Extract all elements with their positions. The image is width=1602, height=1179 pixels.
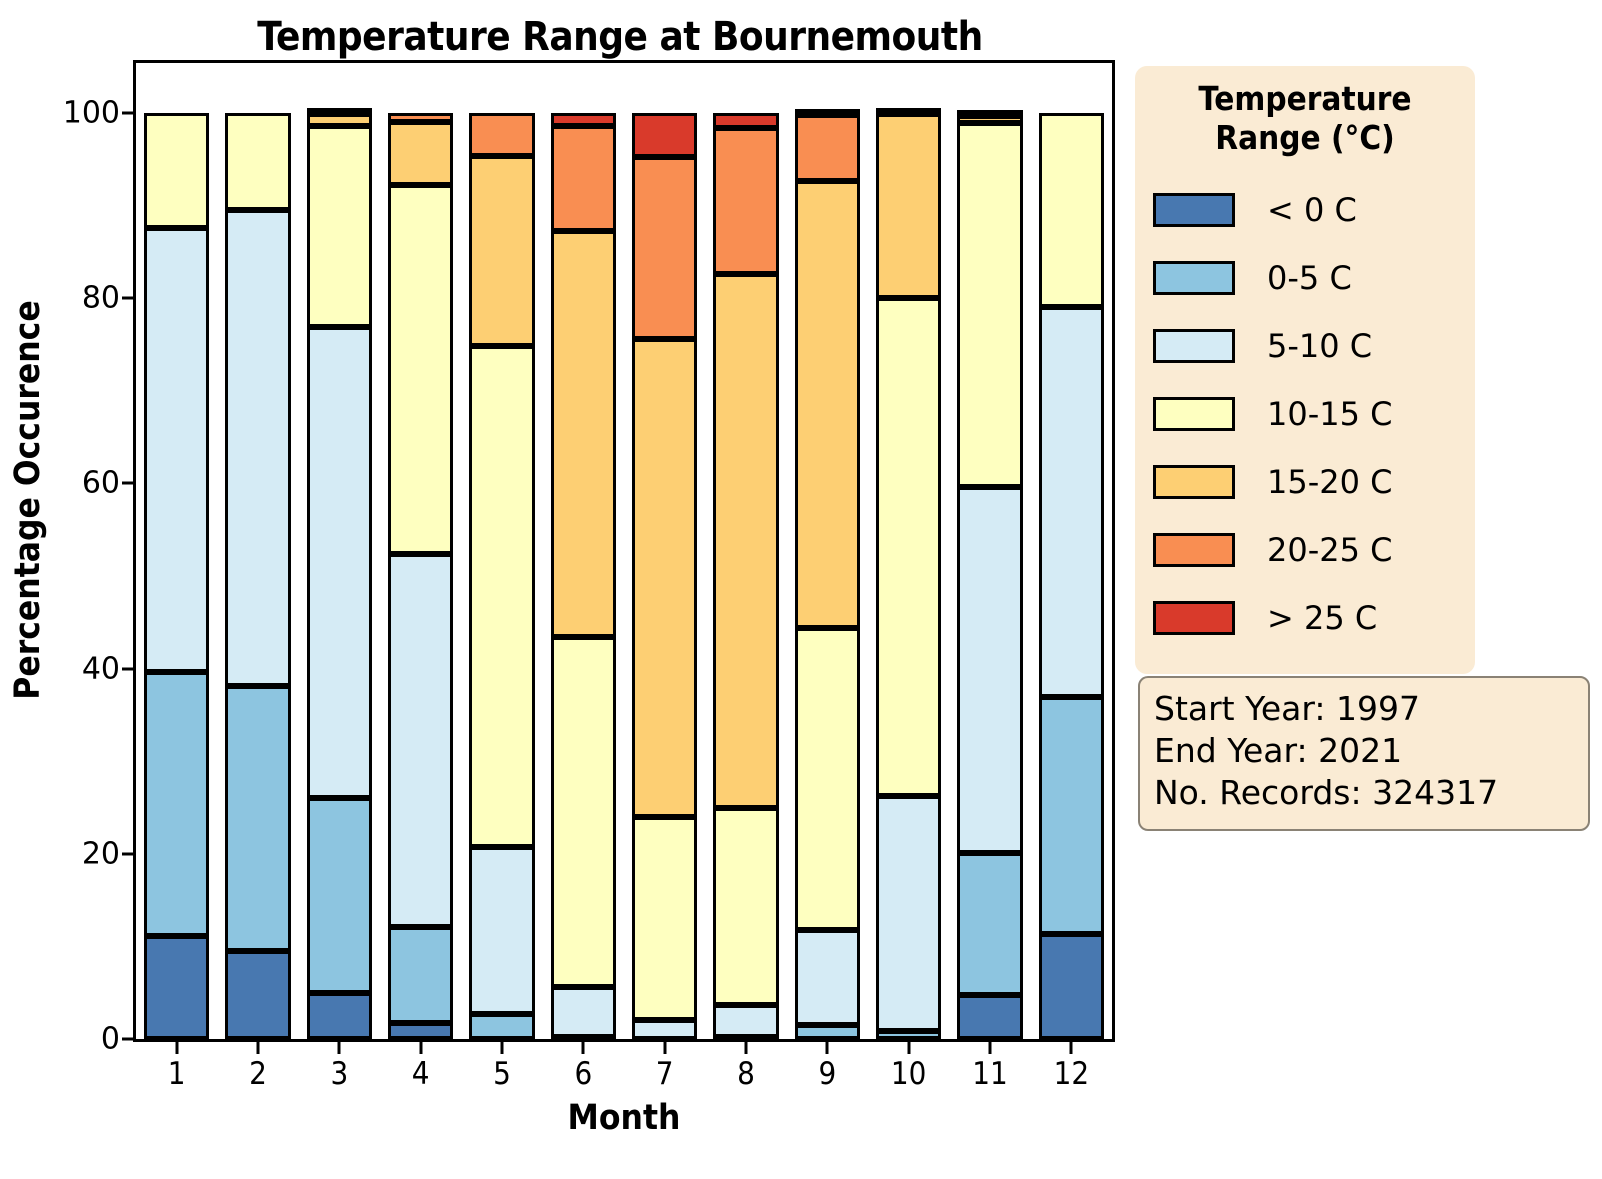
bar-month-11[interactable] bbox=[957, 113, 1022, 1039]
y-tick-mark bbox=[122, 112, 133, 115]
x-tick-label: 8 bbox=[737, 1056, 755, 1092]
bar-segment[interactable] bbox=[469, 156, 534, 347]
y-tick-mark bbox=[122, 1038, 133, 1041]
bar-segment[interactable] bbox=[144, 672, 209, 936]
bar-segment[interactable] bbox=[551, 987, 616, 1037]
x-tick-label: 6 bbox=[574, 1056, 592, 1092]
x-tick-label: 10 bbox=[891, 1056, 926, 1092]
legend-swatch-icon bbox=[1153, 601, 1235, 635]
legend-rows: < 0 C0-5 C5-10 C10-15 C15-20 C20-25 C> 2… bbox=[1153, 176, 1457, 652]
bar-segment[interactable] bbox=[876, 1031, 941, 1039]
legend-item[interactable]: 10-15 C bbox=[1153, 380, 1457, 448]
bar-segment[interactable] bbox=[795, 1025, 860, 1039]
bar-segment[interactable] bbox=[225, 951, 290, 1039]
bar-segment[interactable] bbox=[1039, 934, 1104, 1039]
bar-segment[interactable] bbox=[225, 686, 290, 951]
bar-segment[interactable] bbox=[307, 126, 372, 327]
x-axis-label: Month bbox=[136, 1098, 1112, 1138]
x-axis-ticks: 123456789101112 bbox=[136, 1042, 1112, 1054]
legend-item[interactable]: 5-10 C bbox=[1153, 312, 1457, 380]
legend-item-label: 20-25 C bbox=[1267, 531, 1393, 569]
bar-segment[interactable] bbox=[469, 346, 534, 847]
bar-month-9[interactable] bbox=[795, 113, 860, 1039]
legend: Temperature Range (°C) < 0 C0-5 C5-10 C1… bbox=[1135, 66, 1475, 674]
x-tick-label: 7 bbox=[656, 1056, 674, 1092]
x-tick-label: 2 bbox=[249, 1056, 267, 1092]
bar-segment[interactable] bbox=[713, 1005, 778, 1037]
legend-item[interactable]: 15-20 C bbox=[1153, 448, 1457, 516]
bar-segment[interactable] bbox=[795, 181, 860, 628]
bar-segment[interactable] bbox=[307, 327, 372, 798]
x-tick-mark bbox=[338, 1042, 341, 1054]
bar-segment[interactable] bbox=[876, 114, 941, 298]
bar-segment[interactable] bbox=[957, 110, 1022, 116]
bar-segment[interactable] bbox=[388, 185, 453, 554]
info-box: Start Year: 1997End Year: 2021No. Record… bbox=[1138, 676, 1590, 831]
bar-segment[interactable] bbox=[795, 115, 860, 181]
x-tick-mark bbox=[907, 1042, 910, 1054]
bar-segment[interactable] bbox=[225, 210, 290, 686]
info-line: End Year: 2021 bbox=[1154, 730, 1574, 772]
bar-segment[interactable] bbox=[957, 995, 1022, 1039]
bar-month-1[interactable] bbox=[144, 113, 209, 1039]
x-tick-label: 5 bbox=[493, 1056, 511, 1092]
legend-title: Temperature Range (°C) bbox=[1153, 80, 1457, 158]
bar-month-10[interactable] bbox=[876, 113, 941, 1039]
legend-swatch-icon bbox=[1153, 465, 1235, 499]
legend-item[interactable]: 20-25 C bbox=[1153, 516, 1457, 584]
info-line: Start Year: 1997 bbox=[1154, 688, 1574, 730]
bar-segment[interactable] bbox=[795, 628, 860, 930]
bar-segment[interactable] bbox=[795, 109, 860, 115]
x-tick-mark bbox=[175, 1042, 178, 1054]
bar-segment[interactable] bbox=[144, 228, 209, 672]
bar-segment[interactable] bbox=[307, 798, 372, 992]
bar-month-7[interactable] bbox=[632, 113, 697, 1039]
bar-segment[interactable] bbox=[876, 796, 941, 1030]
bar-segment[interactable] bbox=[144, 936, 209, 1039]
bar-segment[interactable] bbox=[551, 126, 616, 231]
x-tick-mark bbox=[745, 1042, 748, 1054]
x-tick-mark bbox=[419, 1042, 422, 1054]
bar-segment[interactable] bbox=[307, 114, 372, 126]
y-tick-mark bbox=[122, 667, 133, 670]
x-tick-label: 11 bbox=[972, 1056, 1007, 1092]
legend-item-label: 5-10 C bbox=[1267, 327, 1372, 365]
bar-segment[interactable] bbox=[632, 817, 697, 1021]
bar-segment[interactable] bbox=[957, 487, 1022, 853]
bar-segment[interactable] bbox=[713, 274, 778, 807]
bar-segment[interactable] bbox=[713, 128, 778, 274]
bar-segment[interactable] bbox=[551, 231, 616, 638]
legend-swatch-icon bbox=[1153, 533, 1235, 567]
bar-segment[interactable] bbox=[632, 339, 697, 817]
chart-page: Temperature Range at Bournemouth 0204060… bbox=[0, 0, 1602, 1179]
bar-segment[interactable] bbox=[957, 123, 1022, 487]
bar-month-2[interactable] bbox=[225, 113, 290, 1039]
x-tick-label: 1 bbox=[168, 1056, 186, 1092]
legend-swatch-icon bbox=[1153, 193, 1235, 227]
bar-segment[interactable] bbox=[957, 853, 1022, 996]
y-axis-label: Percentage Occurence bbox=[8, 240, 48, 760]
y-tick-mark bbox=[122, 852, 133, 855]
legend-swatch-icon bbox=[1153, 329, 1235, 363]
legend-swatch-icon bbox=[1153, 261, 1235, 295]
y-tick-label: 40 bbox=[82, 651, 120, 686]
bar-segment[interactable] bbox=[388, 1023, 453, 1039]
bar-month-8[interactable] bbox=[713, 113, 778, 1039]
bar-segment[interactable] bbox=[1039, 697, 1104, 934]
x-tick-mark bbox=[1070, 1042, 1073, 1054]
bar-segment[interactable] bbox=[876, 298, 941, 796]
info-line: No. Records: 324317 bbox=[1154, 772, 1574, 814]
x-tick-mark bbox=[582, 1042, 585, 1054]
x-tick-mark bbox=[663, 1042, 666, 1054]
bar-segment[interactable] bbox=[144, 113, 209, 228]
bar-segment[interactable] bbox=[876, 108, 941, 114]
bar-segment[interactable] bbox=[388, 927, 453, 1023]
bar-segment[interactable] bbox=[469, 113, 534, 156]
bar-segment[interactable] bbox=[632, 113, 697, 157]
x-tick-label: 12 bbox=[1054, 1056, 1089, 1092]
bar-segment[interactable] bbox=[713, 808, 778, 1005]
y-tick-label: 0 bbox=[101, 1022, 120, 1057]
bar-segment[interactable] bbox=[388, 113, 453, 122]
y-tick-label: 60 bbox=[82, 466, 120, 501]
bar-segment[interactable] bbox=[632, 1020, 697, 1039]
legend-item-label: > 25 C bbox=[1267, 599, 1377, 637]
legend-item[interactable]: 0-5 C bbox=[1153, 244, 1457, 312]
bar-segment[interactable] bbox=[632, 157, 697, 338]
bar-segment[interactable] bbox=[225, 113, 290, 210]
legend-item-label: 10-15 C bbox=[1267, 395, 1393, 433]
bar-month-6[interactable] bbox=[551, 113, 616, 1039]
bar-segment[interactable] bbox=[957, 116, 1022, 123]
bar-month-12[interactable] bbox=[1039, 113, 1104, 1039]
y-tick-label: 80 bbox=[82, 281, 120, 316]
bar-segment[interactable] bbox=[713, 113, 778, 128]
y-tick-mark bbox=[122, 482, 133, 485]
plot-area bbox=[136, 63, 1112, 1039]
bar-segment[interactable] bbox=[1039, 307, 1104, 697]
x-tick-label: 4 bbox=[412, 1056, 430, 1092]
x-tick-mark bbox=[989, 1042, 992, 1054]
legend-item-label: < 0 C bbox=[1267, 191, 1357, 229]
y-tick-label: 20 bbox=[82, 836, 120, 871]
bar-month-4[interactable] bbox=[388, 113, 453, 1039]
x-tick-label: 9 bbox=[818, 1056, 836, 1092]
y-tick-mark bbox=[122, 297, 133, 300]
legend-item[interactable]: < 0 C bbox=[1153, 176, 1457, 244]
bar-segment[interactable] bbox=[469, 1014, 534, 1039]
bar-segment[interactable] bbox=[307, 993, 372, 1039]
bar-month-5[interactable] bbox=[469, 113, 534, 1039]
x-tick-label: 3 bbox=[330, 1056, 348, 1092]
bar-month-3[interactable] bbox=[307, 113, 372, 1039]
legend-item-label: 15-20 C bbox=[1267, 463, 1393, 501]
bar-segment[interactable] bbox=[1039, 113, 1104, 307]
bar-segment[interactable] bbox=[307, 108, 372, 114]
y-tick-label: 100 bbox=[63, 96, 120, 131]
page-title: Temperature Range at Bournemouth bbox=[120, 14, 1120, 60]
x-tick-mark bbox=[257, 1042, 260, 1054]
legend-item[interactable]: > 25 C bbox=[1153, 584, 1457, 652]
bar-segment[interactable] bbox=[388, 554, 453, 927]
bar-segment[interactable] bbox=[551, 113, 616, 126]
bar-segment[interactable] bbox=[795, 930, 860, 1025]
bar-segment[interactable] bbox=[469, 847, 534, 1014]
bar-segment[interactable] bbox=[551, 637, 616, 987]
x-tick-mark bbox=[501, 1042, 504, 1054]
bar-segment[interactable] bbox=[388, 122, 453, 185]
legend-item-label: 0-5 C bbox=[1267, 259, 1352, 297]
x-tick-mark bbox=[826, 1042, 829, 1054]
legend-swatch-icon bbox=[1153, 397, 1235, 431]
